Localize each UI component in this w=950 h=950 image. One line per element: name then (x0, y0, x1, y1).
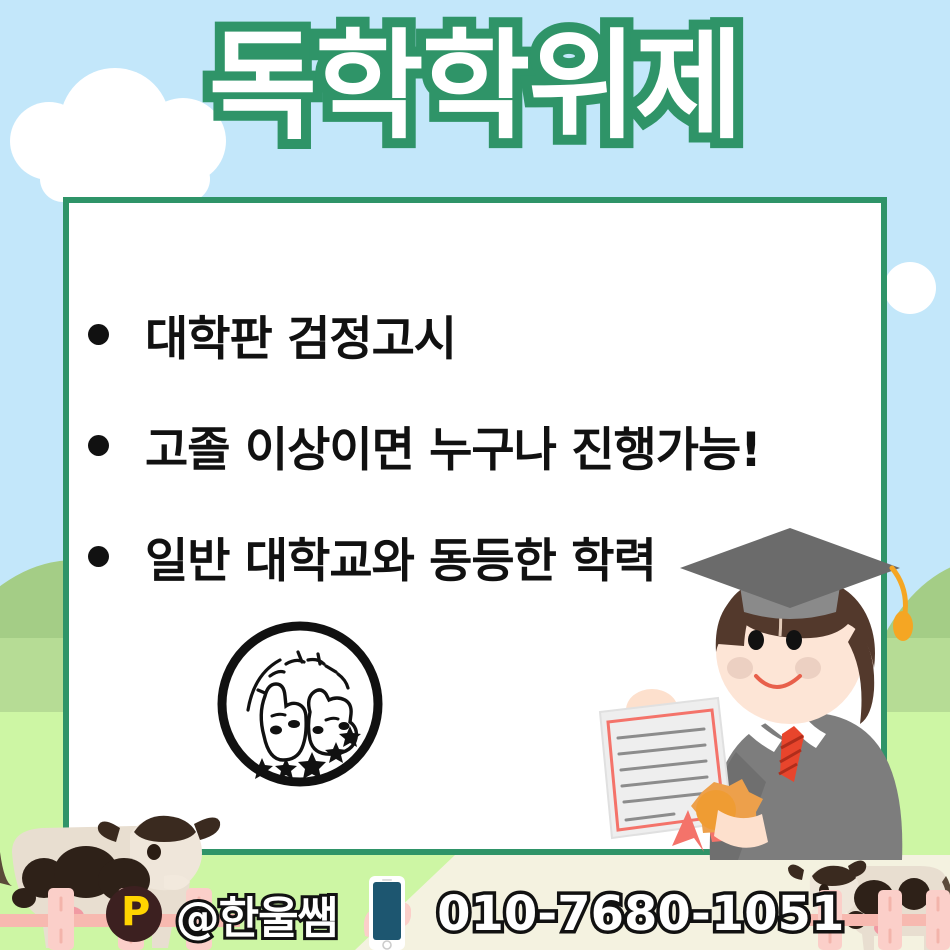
bullet-text: 일반 대학교와 동등한 학력 (145, 522, 656, 591)
contact-bar: P @한울쌤 010-7680-1051 (0, 878, 950, 950)
poster-root: 독학학위제 대학판 검정고시 고졸 이상이면 누구나 진행가능! 일반 대학교와… (0, 0, 950, 950)
page-title: 독학학위제 (209, 18, 742, 155)
list-item: 대학판 검정고시 (88, 300, 888, 369)
bullet-dot-icon (88, 435, 109, 456)
phone-number[interactable]: 010-7680-1051 (437, 886, 844, 942)
bullet-text: 고졸 이상이면 누구나 진행가능! (145, 411, 761, 480)
bullet-text: 대학판 검정고시 (145, 300, 456, 369)
title-block: 독학학위제 (0, 18, 950, 155)
bullet-dot-icon (88, 546, 109, 567)
bullet-list: 대학판 검정고시 고졸 이상이면 누구나 진행가능! 일반 대학교와 동등한 학… (88, 300, 888, 633)
kakao-glyph: P (121, 892, 146, 932)
bullet-dot-icon (88, 324, 109, 345)
kakao-handle[interactable]: @한울쌤 (176, 882, 337, 946)
list-item: 고졸 이상이면 누구나 진행가능! (88, 411, 888, 480)
list-item: 일반 대학교와 동등한 학력 (88, 522, 888, 591)
kakao-channel-icon[interactable]: P (106, 886, 162, 942)
approval-stamp-icon (214, 618, 386, 790)
smartphone-icon (363, 876, 411, 950)
